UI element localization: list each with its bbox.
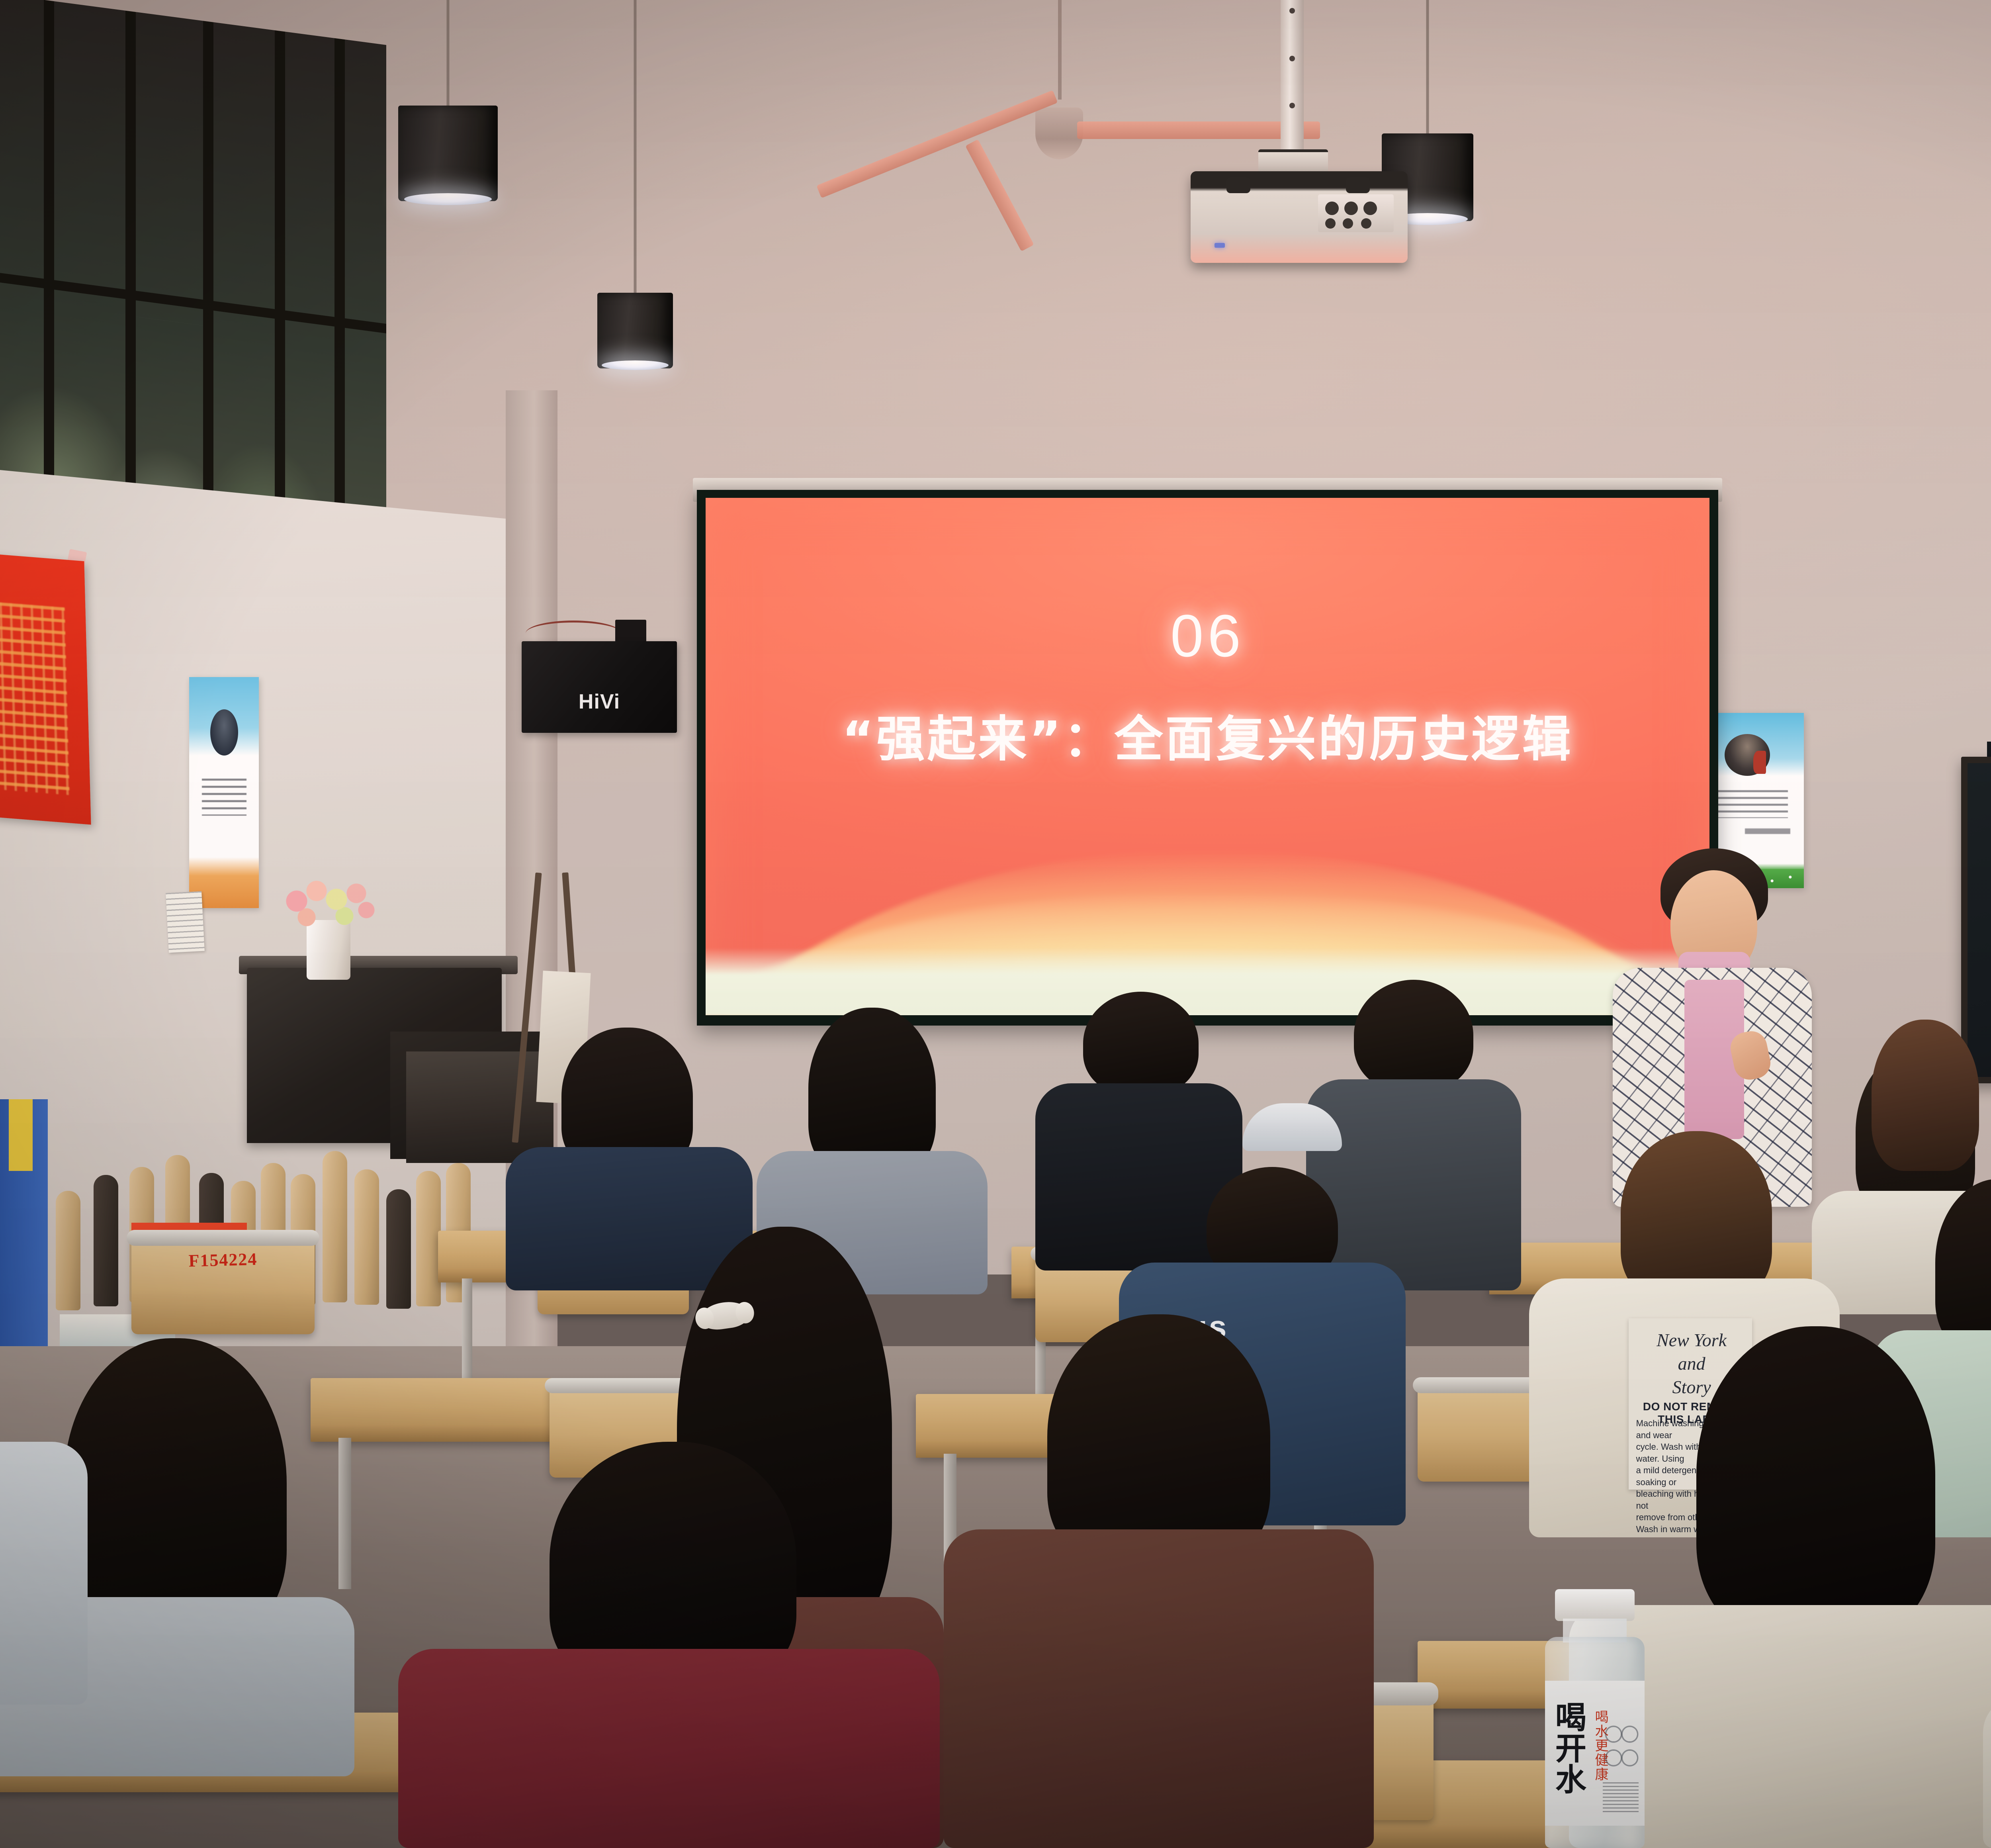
- slide-section-number: 06: [706, 601, 1709, 670]
- projector-mount: [1281, 0, 1304, 155]
- banner-calligraphy: [0, 601, 70, 795]
- wall-sticky-note: [166, 891, 205, 953]
- student-near-4: [390, 1442, 948, 1848]
- fan-motor: [1035, 108, 1083, 159]
- poster-portrait-oval: [210, 709, 238, 756]
- student-near-7: [1975, 1498, 1991, 1848]
- projector-power-led: [1215, 243, 1225, 248]
- poster-text-lines: [202, 779, 246, 816]
- flower-arrangement: [279, 868, 378, 928]
- bottle-label: 喝开水 喝水更健康: [1545, 1681, 1645, 1826]
- screen-frame: 06 “强起来”：全面复兴的历史逻辑: [697, 490, 1718, 1026]
- pendant-shade: [597, 293, 673, 368]
- classroom-photo-scene: HiVi 06 “强起来”：全面复兴的历史逻辑: [0, 0, 1991, 1848]
- fan-rod: [1058, 0, 1062, 100]
- projector-port-panel: [1318, 194, 1394, 232]
- water-bottle[interactable]: 喝开水 喝水更健康: [1545, 1589, 1645, 1848]
- mallet: [386, 1189, 411, 1309]
- pendant-cord: [447, 0, 450, 108]
- projection-screen[interactable]: 06 “强起来”：全面复兴的历史逻辑: [693, 478, 1722, 1036]
- desk-leg: [462, 1278, 472, 1394]
- bottle-label-icons: [1605, 1721, 1639, 1771]
- speaker-bracket: [615, 620, 646, 644]
- student-near-3: [936, 1314, 1382, 1848]
- bottle-label-text: 喝开水: [1553, 1701, 1583, 1794]
- pendant-light: [597, 0, 673, 398]
- bottle-cap: [1555, 1589, 1635, 1621]
- poster-scholar-portrait: [1725, 734, 1770, 776]
- speaker-brand-label: HiVi: [522, 690, 677, 714]
- chair-rim: [127, 1230, 319, 1246]
- poster-attribution: [1745, 828, 1790, 834]
- hivi-speaker: HiVi: [522, 641, 677, 733]
- wall-poster-portrait: [189, 677, 259, 908]
- projector-knob: [1226, 177, 1250, 193]
- pendant-shade: [398, 106, 498, 201]
- pendant-bulb: [602, 360, 668, 370]
- mallet: [416, 1171, 441, 1306]
- flower-vase: [307, 920, 350, 980]
- slide-surface: 06 “强起来”：全面复兴的历史逻辑: [706, 498, 1709, 1015]
- pendant-light: [398, 0, 498, 223]
- pendant-cord: [634, 0, 637, 295]
- student-near-0: [0, 1346, 96, 1705]
- chair-code: F154224: [131, 1247, 315, 1272]
- mallet: [94, 1175, 118, 1306]
- bottle-label-fineprint: [1603, 1782, 1639, 1814]
- red-calligraphy-banner: [0, 553, 91, 824]
- projector-knob: [1346, 177, 1370, 193]
- mallet: [323, 1151, 347, 1302]
- mallet: [56, 1191, 80, 1310]
- chair-mid-left[interactable]: F154224: [131, 1235, 315, 1334]
- slide-title: “强起来”：全面复兴的历史逻辑: [706, 700, 1709, 770]
- pendant-bulb: [404, 193, 492, 205]
- mallet: [354, 1169, 379, 1305]
- ceiling-projector: [1187, 0, 1434, 275]
